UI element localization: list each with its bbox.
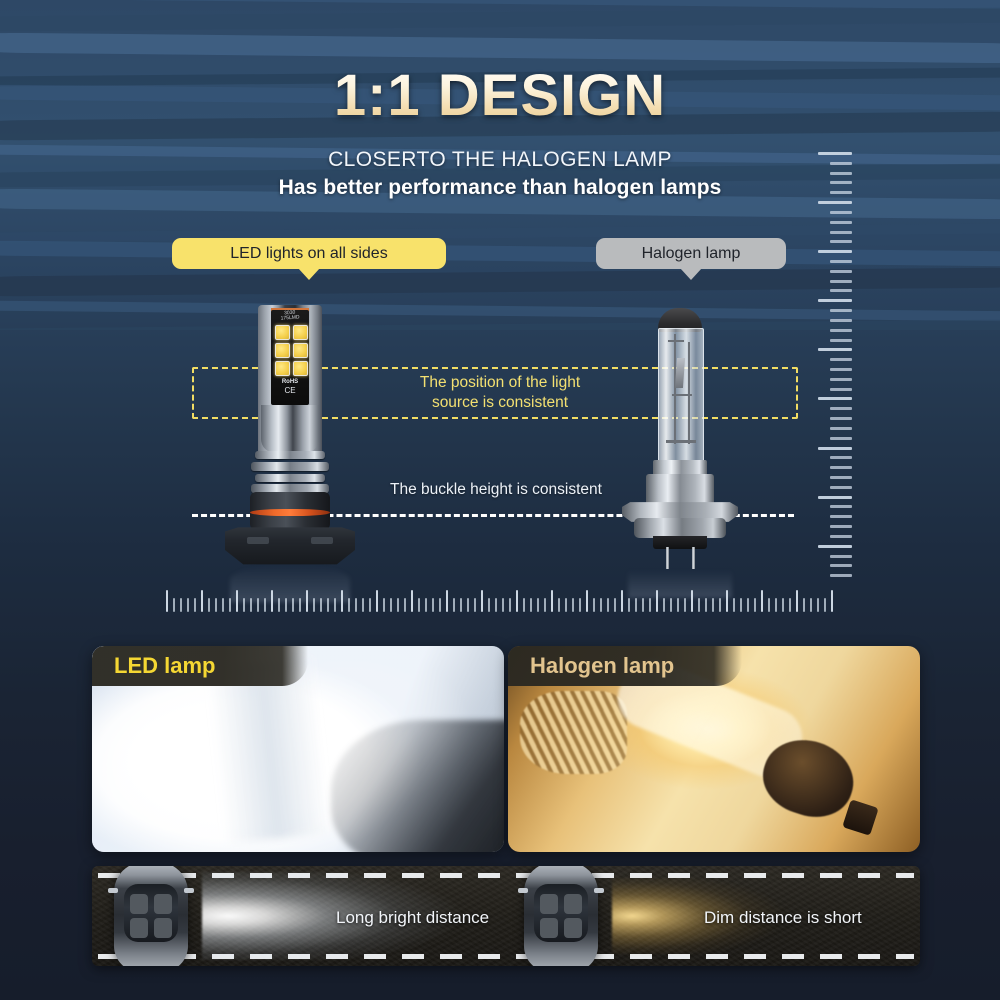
led-photo-shadow [331,720,504,852]
ruler-tick [621,590,623,612]
ruler-tick [830,476,852,479]
ruler-tick [194,598,196,612]
halogen-flange-lower [634,518,726,538]
ruler-tick [830,339,852,342]
ruler-tick [830,535,852,538]
car-seat [130,894,148,914]
ruler-tick [830,280,852,283]
ruler-tick [600,598,602,612]
ruler-tick [670,598,672,612]
callout-tail-icon [298,268,320,280]
ruler-tick [306,590,308,612]
ruler-tick [481,590,483,612]
callout-halogen-label: Halogen lamp [642,245,741,263]
ruler-tick [614,598,616,612]
led-chip [293,325,308,340]
ruler-tick [411,590,413,612]
led-base-flange [225,524,355,566]
ruler-tick [830,407,852,410]
ruler-tick [818,496,852,499]
ruler-tick [830,329,852,332]
ruler-tick [292,598,294,612]
ruler-tick [830,574,852,577]
ruler-tick [551,590,553,612]
ruler-tick [830,456,852,459]
halogen-photo-coil [520,691,627,773]
ruler-tick [446,590,448,612]
halogen-panel-label: Halogen lamp [530,653,674,679]
led-fin [255,451,325,459]
ruler-tick [327,598,329,612]
ruler-tick [830,525,852,528]
wave-band [0,32,1000,64]
ruler-tick [180,598,182,612]
light-source-note-line2: source is consistent [380,393,620,413]
led-chip [293,343,308,358]
ruler-tick [264,598,266,612]
ruler-tick [397,598,399,612]
ruler-tick [467,598,469,612]
ruler-tick [824,598,826,612]
ruler-tick [215,598,217,612]
halogen-glass-envelope [658,328,704,465]
ruler-tick [355,598,357,612]
ruler-tick [830,486,852,489]
ruler-tick [830,319,852,322]
ruler-tick [257,598,259,612]
ruler-tick [404,598,406,612]
ruler-tick [523,598,525,612]
ruler-tick [649,598,651,612]
ruler-tick [173,598,175,612]
callout-led-lights: LED lights on all sides [172,238,446,269]
ruler-tick [830,555,852,558]
ruler-tick [166,590,168,612]
led-chip [293,361,308,376]
ruler-tick [830,240,852,243]
ruler-tick [830,172,852,175]
ruler-tick [271,590,273,612]
ruler-tick [768,598,770,612]
ruler-tick [830,368,852,371]
ruler-tick [236,590,238,612]
led-lamp-photo-panel: LED lamp [92,646,504,852]
callout-tail-icon [680,268,702,280]
ruler-tick [782,598,784,612]
led-panel-label: LED lamp [114,653,215,679]
buckle-height-note: The buckle height is consistent [390,481,602,499]
ruler-tick [509,598,511,612]
ruler-tick [817,598,819,612]
callout-halogen-lamp: Halogen lamp [596,238,786,269]
ruler-tick [243,598,245,612]
ruler-tick [222,598,224,612]
ruler-tick [830,466,852,469]
car-mirror [518,888,528,893]
ruler-tick [250,598,252,612]
ruler-tick [830,358,852,361]
ruler-tick [691,590,693,612]
ruler-tick [698,598,700,612]
ruler-tick [705,598,707,612]
car-seat [564,894,582,914]
ruler-tick [818,397,852,400]
car-mirror [594,888,604,893]
ruler-tick [586,590,588,612]
ruler-tick [830,231,852,234]
ruler-tick [320,598,322,612]
ruler-tick [830,515,852,518]
ruler-tick [187,598,189,612]
ruler-tick [362,598,364,612]
ruler-tick [726,590,728,612]
ruler-tick [348,598,350,612]
car-halogen [524,866,598,966]
ruler-tick [502,598,504,612]
ruler-tick [425,598,427,612]
ruler-tick [818,348,852,351]
led-rohs-mark: RoHS [271,378,309,386]
halogen-filament-wire [672,394,692,396]
led-fin [251,462,329,471]
ruler-tick [593,598,595,612]
ruler-tick [579,598,581,612]
ruler-tick [383,598,385,612]
led-bulb-illustration: 3030 175LMD RoHS CE [225,305,355,570]
halogen-filament-wire [666,440,696,443]
ruler-tick [635,598,637,612]
ruler-tick [208,598,210,612]
led-orange-ring [250,509,330,516]
ruler-tick [830,564,852,567]
ruler-tick [460,598,462,612]
halogen-lamp-photo-panel: Halogen lamp [508,646,920,852]
ruler-tick [831,590,833,612]
led-base-notch [311,537,333,544]
light-source-note: The position of the light source is cons… [380,373,620,413]
ruler-tick [537,598,539,612]
ruler-tick [376,590,378,612]
ruler-tick [830,181,852,184]
led-ce-mark: CE [271,386,309,395]
ruler-tick [830,289,852,292]
ruler-tick [313,598,315,612]
ruler-tick [439,598,441,612]
ruler-tick [656,590,658,612]
ruler-tick [390,598,392,612]
ruler-tick [775,598,777,612]
light-source-note-line1: The position of the light [380,373,620,393]
ruler-tick [418,598,420,612]
halogen-bulb-illustration [620,308,740,570]
halogen-panel-header: Halogen lamp [508,646,742,686]
ruler-tick [432,598,434,612]
led-chip [275,343,290,358]
ruler-tick [830,388,852,391]
halogen-contact-pin [692,547,695,569]
ruler-tick [201,590,203,612]
car-seat [564,918,582,938]
ruler-tick [229,598,231,612]
ruler-tick [278,598,280,612]
road-beam-comparison: Long bright distance Dim distance is sho… [92,866,920,966]
ruler-tick [818,201,852,204]
halogen-filament-wire [688,342,690,444]
halogen-photo-knob-stem [842,799,878,835]
car-seat [540,894,558,914]
ruler-tick [818,447,852,450]
ruler-tick [740,598,742,612]
car-mirror [184,888,194,893]
ruler-tick [572,598,574,612]
horizontal-ruler [166,588,838,612]
ruler-tick [565,598,567,612]
car-mirror [108,888,118,893]
ruler-tick [474,598,476,612]
ruler-tick [818,250,852,253]
ruler-tick [334,598,336,612]
ruler-tick [369,598,371,612]
ruler-tick [684,598,686,612]
ruler-tick [341,590,343,612]
ruler-tick [830,270,852,273]
ruler-tick [530,598,532,612]
led-panel-header: LED lamp [92,646,308,686]
led-chip [275,325,290,340]
ruler-tick [663,598,665,612]
ruler-tick [754,598,756,612]
wave-band [0,7,1000,32]
led-chip-grid [275,325,305,376]
ruler-tick [830,437,852,440]
led-base-notch [247,537,269,544]
ruler-tick [607,598,609,612]
ruler-tick [830,191,852,194]
ruler-tick [747,598,749,612]
halogen-distance-note: Dim distance is short [704,908,862,928]
ruler-tick [830,211,852,214]
car-seat [130,918,148,938]
infographic-canvas: 1:1 DESIGN CLOSERTO THE HALOGEN LAMP Has… [0,0,1000,1000]
halogen-metal-body [646,474,714,506]
callout-led-label: LED lights on all sides [230,245,387,263]
car-seat [540,918,558,938]
ruler-tick [830,260,852,263]
ruler-tick [761,590,763,612]
ruler-tick [516,590,518,612]
led-chip [275,361,290,376]
ruler-tick [677,598,679,612]
car-led [114,866,188,966]
ruler-tick [453,598,455,612]
ruler-tick [796,590,798,612]
ruler-tick [830,309,852,312]
halogen-filament-wire [674,334,676,444]
ruler-tick [719,598,721,612]
ruler-tick [789,598,791,612]
led-neck [261,405,319,453]
ruler-tick [818,299,852,302]
led-fin [255,474,325,482]
halogen-contact-pin [666,547,669,569]
ruler-tick [642,598,644,612]
ruler-tick [830,378,852,381]
car-seat [154,894,172,914]
ruler-tick [712,598,714,612]
halogen-filament-wire [668,340,684,342]
halogen-base-cap [653,536,707,549]
ruler-tick [558,598,560,612]
ruler-tick [830,417,852,420]
car-seat [154,918,172,938]
ruler-tick [488,598,490,612]
ruler-tick [830,162,852,165]
ruler-tick [544,598,546,612]
ruler-tick [495,598,497,612]
ruler-tick [285,598,287,612]
ruler-tick [818,545,852,548]
vertical-ruler [810,152,852,584]
ruler-tick [818,152,852,155]
ruler-tick [830,427,852,430]
ruler-tick [803,598,805,612]
ruler-tick [810,598,812,612]
ruler-tick [830,505,852,508]
ruler-tick [830,221,852,224]
ruler-tick [733,598,735,612]
ruler-tick [299,598,301,612]
ruler-tick [628,598,630,612]
led-distance-note: Long bright distance [336,908,489,928]
page-title: 1:1 DESIGN [0,62,1000,129]
